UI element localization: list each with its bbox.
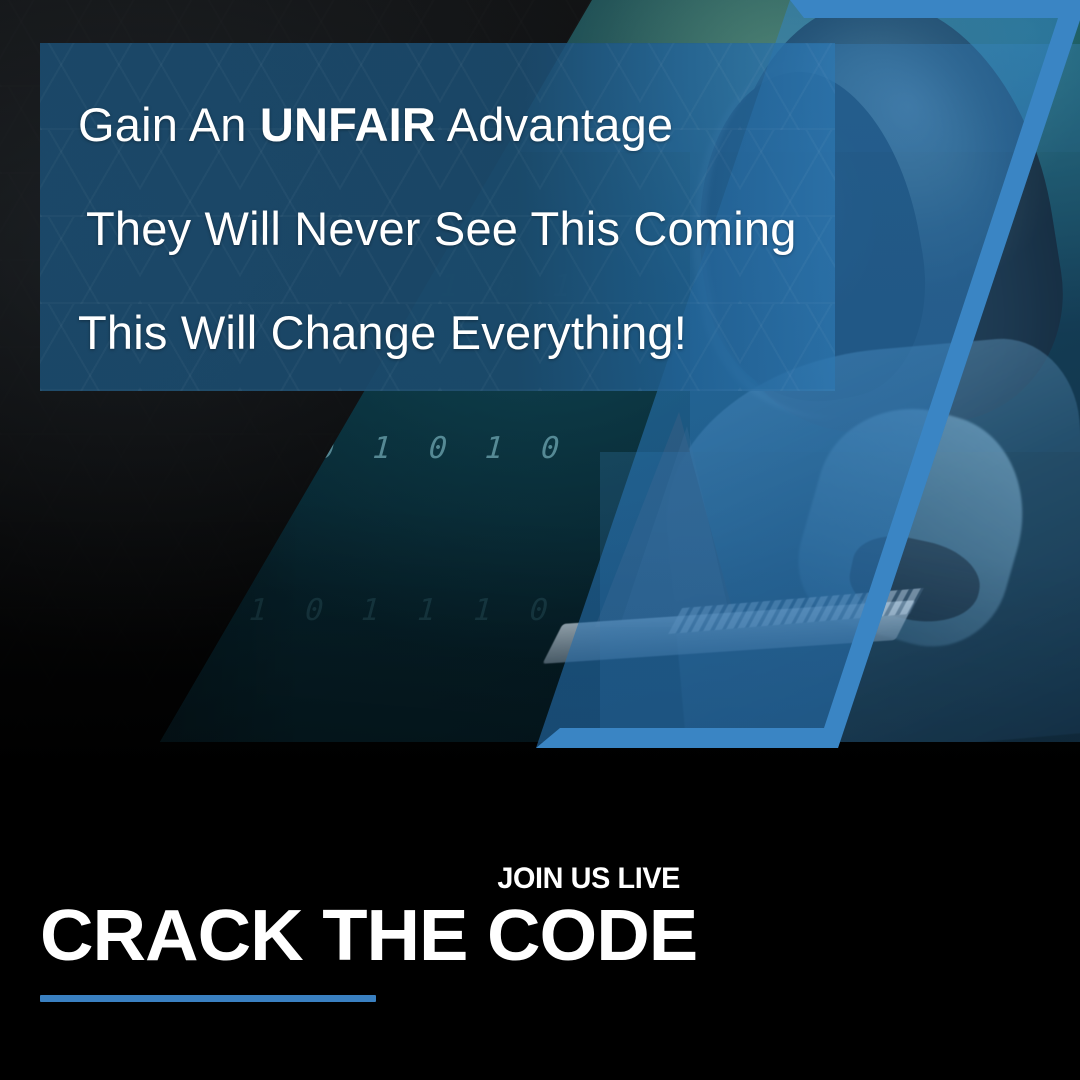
headline-panel: Gain An UNFAIR Advantage They Will Never… [40,43,835,391]
headline-line-1: Gain An UNFAIR Advantage [78,73,835,177]
promo-poster: 1 0 1 1 0 1 0 0 1 1 0 1 1 0 1 0 1 1 0 1 … [0,0,1080,1080]
headline-lines: Gain An UNFAIR Advantage They Will Never… [40,43,835,385]
headline-line-1-prefix: Gain An [78,98,260,151]
headline-line-3: This Will Change Everything! [78,281,835,385]
headline-emphasis-unfair: UNFAIR [260,98,436,151]
headline-line-1-suffix: Advantage [436,98,673,151]
accent-underline-bar [40,995,376,1002]
headline-line-2: They Will Never See This Coming [78,177,835,281]
footer-lockup: JOIN US LIVE CRACK THE CODE [40,864,680,1002]
event-title-crack-the-code: CRACK THE CODE [40,900,699,973]
eyebrow-join-us-live: JOIN US LIVE [66,864,680,894]
